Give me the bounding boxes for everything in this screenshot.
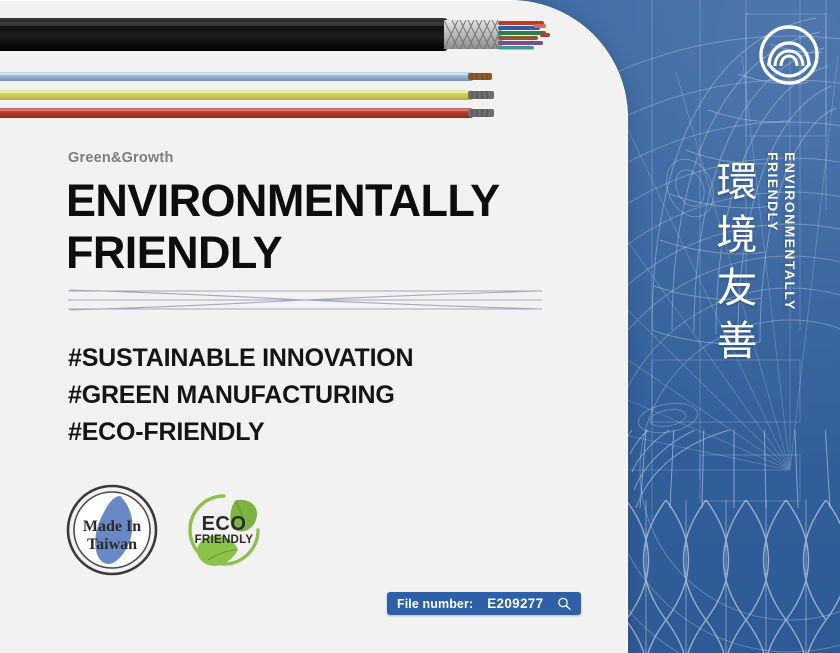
file-number-value: E209277	[487, 596, 543, 611]
made-in-taiwan-line1: Made In	[83, 518, 141, 535]
file-number-label: File number:	[397, 597, 473, 611]
eco-badge-line2: FRIENDLY	[195, 534, 254, 546]
eco-badge-line1: ECO	[202, 513, 247, 535]
poster-canvas: 環境友善 ENVIRONMENTALLY FRIENDLY	[0, 0, 840, 653]
cable-illustration	[0, 0, 628, 135]
page-title: ENVIRONMENTALLY FRIENDLY	[66, 175, 500, 279]
hashtag-item: #GREEN MANUFACTURING	[68, 377, 413, 414]
hashtag-item: #SUSTAINABLE INNOVATION	[68, 340, 413, 377]
certification-badges: Made In Taiwan ECO FRIENDLY	[66, 484, 264, 576]
hashtag-list: #SUSTAINABLE INNOVATION #GREEN MANUFACTU…	[68, 340, 413, 451]
eco-friendly-badge-icon: ECO FRIENDLY	[184, 490, 264, 570]
side-panel-en-text: ENVIRONMENTALLY FRIENDLY	[764, 152, 798, 311]
made-in-taiwan-line2: Taiwan	[87, 536, 137, 553]
eyebrow-label: Green&Growth	[68, 150, 174, 166]
made-in-taiwan-badge-icon: Made In Taiwan	[66, 484, 158, 576]
circular-arch-logo-icon	[756, 22, 822, 88]
hashtag-item: #ECO-FRIENDLY	[68, 414, 413, 451]
file-number-badge[interactable]: File number: E209277	[387, 592, 581, 615]
content-card: Green&Growth ENVIRONMENTALLY FRIENDLY #S…	[0, 0, 628, 653]
side-panel-cjk-text: 環境友善	[706, 160, 760, 372]
magnifier-icon[interactable]	[557, 596, 572, 611]
decorative-divider	[62, 276, 548, 320]
